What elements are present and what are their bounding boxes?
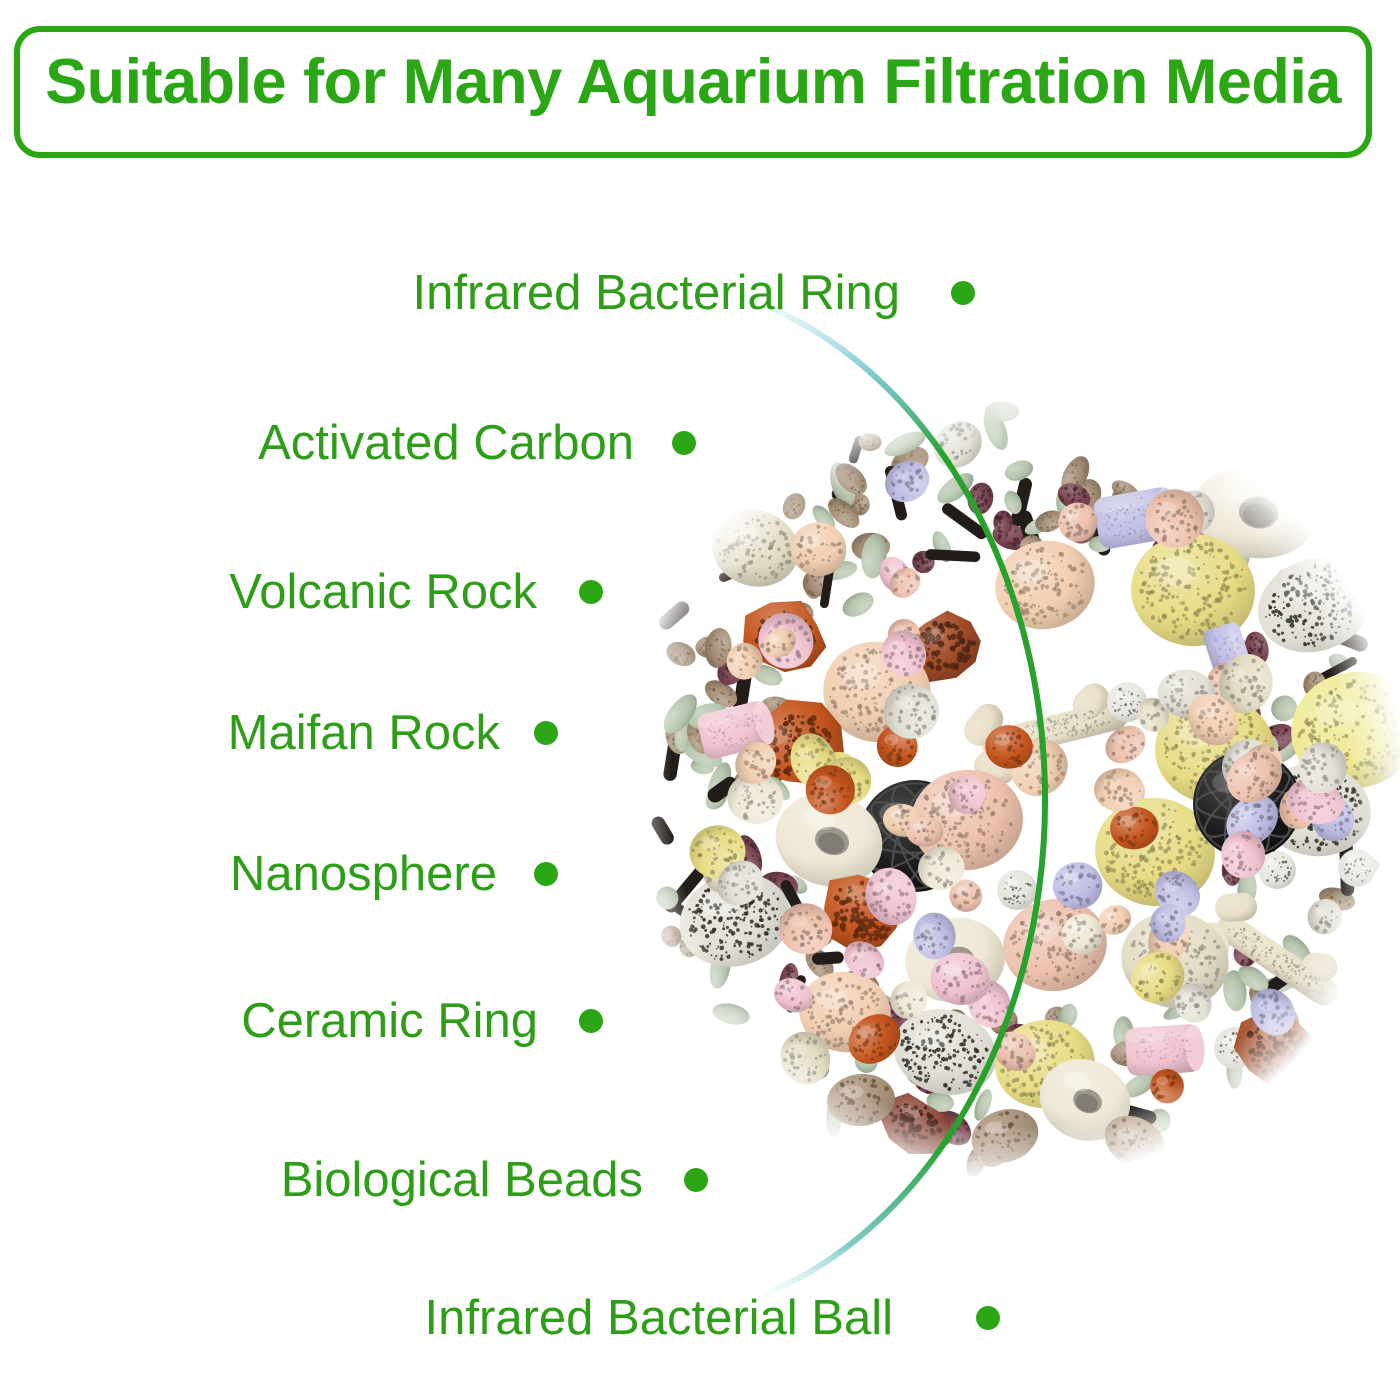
pile-vignette — [615, 400, 1400, 1190]
media-label-text: Volcanic Rock — [229, 568, 537, 617]
connector-dot — [579, 580, 603, 604]
media-label-ceramic-ring: Ceramic Ring — [241, 991, 538, 1051]
page-title: Suitable for Many Aquarium Filtration Me… — [20, 32, 1366, 152]
media-label-text: Maifan Rock — [228, 709, 500, 758]
media-label-text: Activated Carbon — [258, 419, 634, 468]
connector-dot — [534, 862, 558, 886]
connector-dot — [534, 721, 558, 745]
media-label-infrared-bacterial-ball: Infrared Bacterial Ball — [425, 1288, 893, 1348]
media-label-volcanic-rock: Volcanic Rock — [229, 562, 537, 622]
media-label-text: Infrared Bacterial Ring — [412, 269, 900, 318]
media-label-text: Infrared Bacterial Ball — [425, 1294, 893, 1343]
media-label-nanosphere: Nanosphere — [230, 844, 497, 904]
media-label-maifan-rock: Maifan Rock — [228, 703, 500, 763]
infographic-page: Suitable for Many Aquarium Filtration Me… — [0, 0, 1400, 1400]
media-label-activated-carbon: Activated Carbon — [258, 413, 634, 473]
header-banner: Suitable for Many Aquarium Filtration Me… — [14, 26, 1372, 158]
connector-dot — [976, 1306, 1000, 1330]
filtration-media-photo — [615, 400, 1400, 1190]
media-label-text: Nanosphere — [230, 850, 497, 899]
media-pile-illustration — [615, 400, 1400, 1190]
connector-dot — [951, 281, 975, 305]
media-label-text: Biological Beads — [281, 1156, 643, 1205]
media-label-biological-beads: Biological Beads — [281, 1150, 643, 1210]
media-label-infrared-bacterial-ring: Infrared Bacterial Ring — [412, 263, 900, 323]
media-label-text: Ceramic Ring — [241, 997, 538, 1046]
connector-dot — [579, 1009, 603, 1033]
